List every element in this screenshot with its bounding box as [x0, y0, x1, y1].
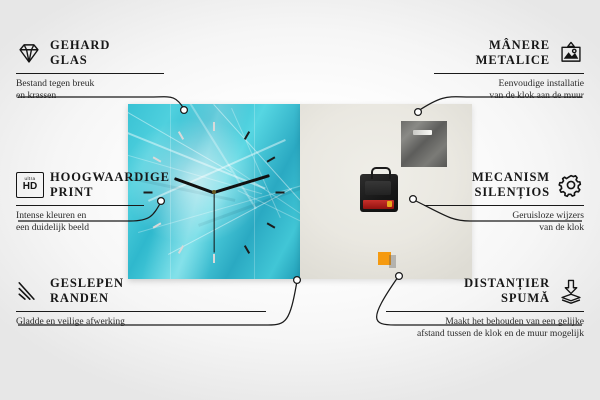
feature-title: MÂNERE METALICE	[476, 38, 550, 68]
metal-hanger-icon	[401, 121, 447, 167]
feature-description: Maakt het behouden van een gelijke afsta…	[386, 316, 584, 342]
diamond-icon	[16, 40, 42, 66]
feature-tempered-glass: GEHARD GLAS Bestand tegen breuk en krass…	[16, 38, 186, 103]
feature-rule	[424, 205, 584, 206]
feature-polished-edges: GESLEPEN RANDEN Gladde en veilige afwerk…	[16, 276, 216, 328]
spacer-arrow-icon	[558, 278, 584, 304]
movement-face	[365, 181, 391, 195]
feature-description: Gladde en veilige afwerking	[16, 316, 216, 329]
feature-rule	[16, 73, 164, 74]
feature-title: DISTANȚIER SPUMĂ	[464, 276, 550, 306]
feature-silent-mechanism: MECANISM SILENȚIOS Geruisloze wijzers va…	[414, 170, 584, 235]
feature-title: GEHARD GLAS	[50, 38, 110, 68]
battery	[363, 200, 394, 209]
feature-title: GESLEPEN RANDEN	[50, 276, 124, 306]
polished-edges-icon	[16, 278, 42, 304]
feature-rule	[434, 73, 584, 74]
feature-description: Eenvoudige installatie van de klok aan d…	[414, 78, 584, 104]
foam-spacer	[378, 252, 391, 265]
feature-description: Intense kleuren en een duidelijk beeld	[16, 210, 196, 236]
ultra-hd-icon: ultraHD	[16, 172, 42, 198]
hanger-loop	[371, 167, 391, 179]
feature-description: Bestand tegen breuk en krassen	[16, 78, 186, 104]
feature-description: Geruisloze wijzers van de klok	[414, 210, 584, 236]
feature-rule	[16, 205, 144, 206]
feature-rule	[386, 311, 584, 312]
picture-frame-icon	[558, 40, 584, 66]
feature-rule	[16, 311, 266, 312]
feature-title: MECANISM SILENȚIOS	[472, 170, 550, 200]
feature-metal-handles: MÂNERE METALICE Eenvoudige installatie v…	[414, 38, 584, 103]
feature-foam-spacer: DISTANȚIER SPUMĂ Maakt het behouden van …	[386, 276, 584, 341]
clock-movement	[360, 174, 398, 212]
feature-high-quality-print: ultraHD HOOGWAARDIGE PRINT Intense kleur…	[16, 170, 196, 235]
infographic-canvas: GEHARD GLAS Bestand tegen breuk en krass…	[0, 0, 600, 400]
clock-hub	[212, 190, 216, 194]
feature-title: HOOGWAARDIGE PRINT	[50, 170, 170, 200]
gear-icon	[558, 172, 584, 198]
clock-second-hand	[213, 192, 214, 252]
